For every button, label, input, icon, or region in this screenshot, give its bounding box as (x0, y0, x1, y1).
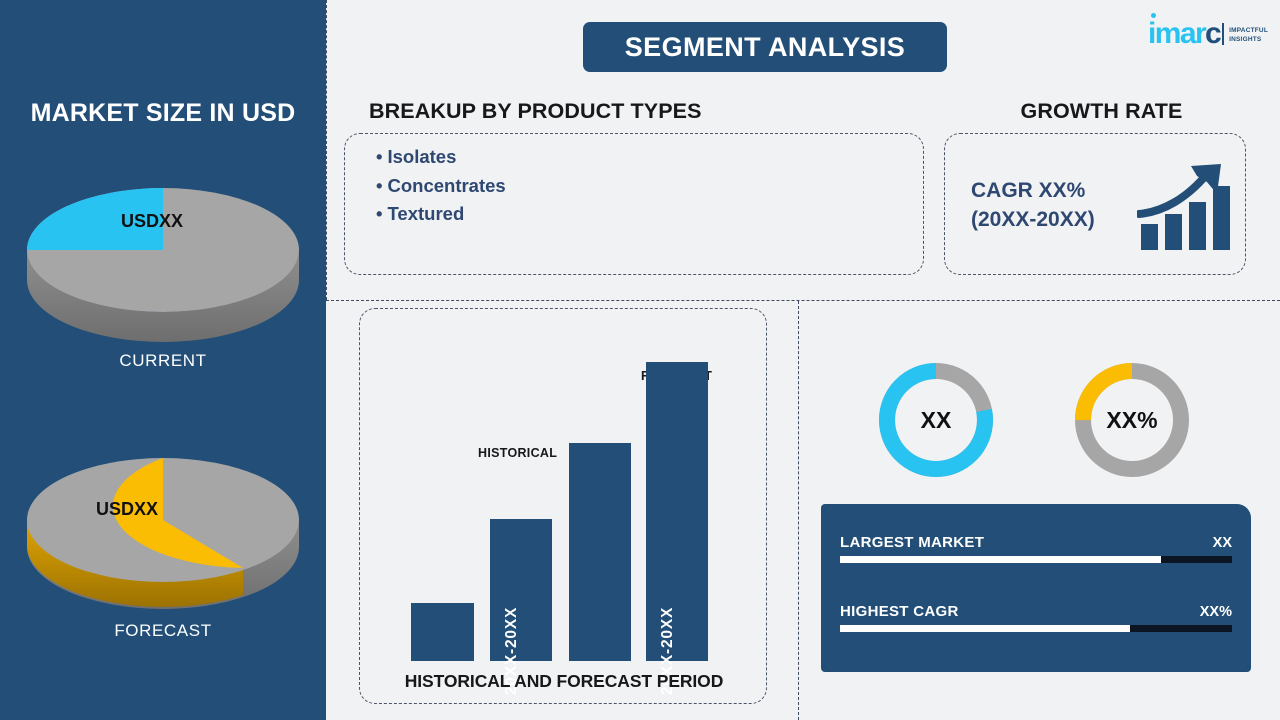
cagr-period-line: (20XX-20XX) (971, 205, 1095, 234)
logo-text-imar: imar (1148, 17, 1205, 50)
stat-header: LARGEST MARKET XX (840, 529, 1232, 551)
progress-track (840, 625, 1232, 632)
stat-highest-cagr: HIGHEST CAGR XX% (840, 598, 1232, 632)
growth-rate-card: CAGR XX% (20XX-20XX) (944, 133, 1246, 275)
bar-chart: HISTORICAL 20XX-20XX FORECAST 20XX-20XX … (360, 309, 768, 705)
pie-current-label: USDXX (121, 211, 183, 231)
pie-forecast-caption: FORECAST (0, 621, 326, 641)
historical-annotation: HISTORICAL (478, 446, 557, 460)
table-row (411, 603, 474, 661)
growth-arrow-bar-chart-icon (1137, 162, 1233, 254)
stat-label: HIGHEST CAGR (840, 603, 959, 620)
sidebar-title: MARKET SIZE IN USD (0, 99, 326, 128)
list-item: •Concentrates (376, 172, 506, 201)
product-type-label: Textured (387, 203, 464, 224)
product-types-heading: BREAKUP BY PRODUCT TYPES (369, 99, 702, 124)
product-type-label: Concentrates (387, 175, 505, 196)
list-item: •Textured (376, 200, 506, 229)
imarc-logo: imarc IMPACTFUL INSIGHTS (1148, 12, 1268, 48)
imarc-logo-tagline: IMPACTFUL INSIGHTS (1229, 27, 1268, 48)
bullet-icon: • (376, 146, 387, 167)
cagr-text: CAGR XX% (20XX-20XX) (971, 176, 1095, 234)
pie-current-svg: USDXX (18, 155, 308, 345)
growth-rate-heading: GROWTH RATE (944, 99, 1259, 124)
pie-chart-current: USDXX CURRENT (0, 155, 326, 371)
progress-fill (840, 625, 1130, 632)
stat-label: LARGEST MARKET (840, 534, 984, 551)
stat-largest-market: LARGEST MARKET XX (840, 529, 1232, 563)
market-size-sidebar: MARKET SIZE IN USD USDXX CURRENT (0, 0, 326, 720)
divider-horizontal (326, 300, 1280, 301)
donut-chart-left: XX (874, 358, 998, 482)
list-item: •Isolates (376, 143, 506, 172)
historical-forecast-chart-card: HISTORICAL 20XX-20XX FORECAST 20XX-20XX … (359, 308, 767, 704)
table-row: 20XX-20XX (646, 362, 708, 661)
segment-analysis-infographic: MARKET SIZE IN USD USDXX CURRENT (0, 0, 1280, 720)
tagline-line-1: IMPACTFUL (1229, 27, 1268, 36)
stat-value: XX (1213, 535, 1232, 551)
tagline-line-2: INSIGHTS (1229, 36, 1268, 45)
logo-divider (1222, 23, 1224, 45)
product-types-card: •Isolates •Concentrates •Textured (344, 133, 924, 275)
progress-track (840, 556, 1232, 563)
donut-left-label: XX (874, 358, 998, 482)
product-type-label: Isolates (387, 146, 456, 167)
logo-text-c: c (1205, 17, 1220, 50)
pie-forecast-label: USDXX (96, 499, 158, 519)
page-title: SEGMENT ANALYSIS (583, 22, 947, 72)
progress-fill (840, 556, 1161, 563)
pie-chart-forecast: USDXX FORECAST (0, 425, 326, 641)
imarc-logo-wordmark: imarc (1148, 20, 1220, 48)
stat-value: XX% (1200, 604, 1232, 620)
donut-right-label: XX% (1070, 358, 1194, 482)
stat-header: HIGHEST CAGR XX% (840, 598, 1232, 620)
pie-forecast-svg: USDXX (18, 425, 308, 615)
market-stats-panel: LARGEST MARKET XX HIGHEST CAGR XX% (821, 504, 1251, 672)
table-row: 20XX-20XX (490, 519, 552, 661)
divider-left-vertical (326, 0, 327, 300)
cagr-value-line: CAGR XX% (971, 176, 1095, 205)
bullet-icon: • (376, 203, 387, 224)
pie-current-caption: CURRENT (0, 351, 326, 371)
bullet-icon: • (376, 175, 387, 196)
header: SEGMENT ANALYSIS imarc IMPACTFUL INSIGHT… (326, 0, 1280, 90)
table-row (569, 443, 631, 661)
chart-axis-label: HISTORICAL AND FORECAST PERIOD (360, 671, 768, 692)
divider-vertical (798, 301, 799, 720)
product-types-list: •Isolates •Concentrates •Textured (376, 143, 506, 229)
donut-chart-right: XX% (1070, 358, 1194, 482)
